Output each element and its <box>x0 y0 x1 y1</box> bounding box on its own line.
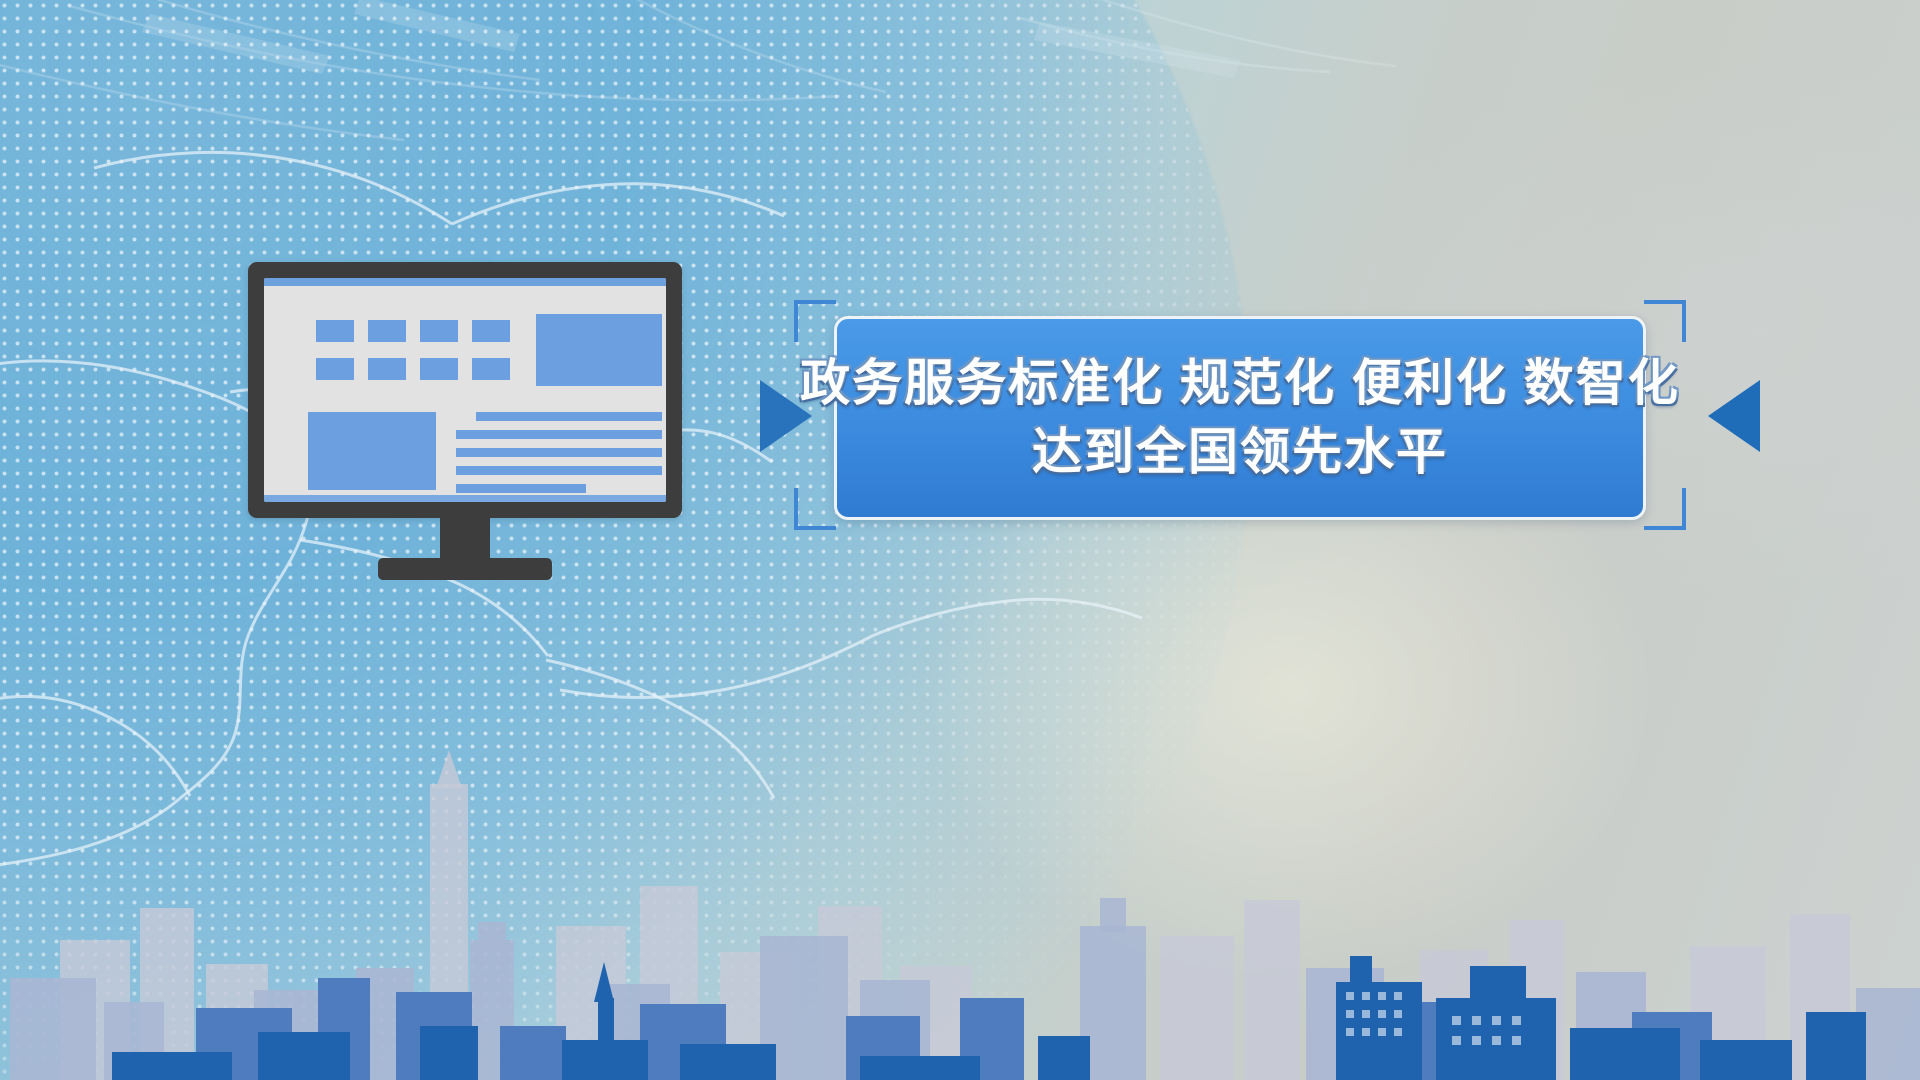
screen-nav-tile <box>368 358 406 380</box>
screen-nav-tile <box>316 320 354 342</box>
screen-text-line <box>456 448 662 457</box>
monitor-stand-neck <box>440 518 490 562</box>
monitor-bezel <box>248 262 682 518</box>
corner-bracket-bottom-left-icon <box>794 488 836 530</box>
monitor-screen <box>264 278 666 502</box>
corner-bracket-bottom-right-icon <box>1644 488 1686 530</box>
screen-text-line <box>456 484 586 493</box>
headline-banner: 政务服务标准化 规范化 便利化 数智化 达到全国领先水平 <box>834 316 1646 520</box>
screen-nav-tile <box>316 358 354 380</box>
city-skyline-silhouette <box>0 740 1920 1080</box>
monitor-stand-base <box>378 558 552 580</box>
screen-nav-tile <box>472 358 510 380</box>
screen-text-line <box>476 412 662 421</box>
screen-bottom-bar <box>264 495 666 502</box>
headline-line-2: 达到全国领先水平 <box>1032 418 1448 487</box>
screen-top-bar <box>264 278 666 286</box>
headline-line-1: 政务服务标准化 规范化 便利化 数智化 <box>800 349 1680 418</box>
screen-nav-tile <box>420 358 458 380</box>
screen-nav-tile <box>472 320 510 342</box>
monitor-illustration <box>248 262 682 592</box>
screen-image-block <box>308 412 436 490</box>
broadcast-graphic-slide: 政务服务标准化 规范化 便利化 数智化 达到全国领先水平 <box>0 0 1920 1080</box>
corner-bracket-top-left-icon <box>794 300 836 342</box>
screen-text-line <box>456 430 662 439</box>
corner-bracket-top-right-icon <box>1644 300 1686 342</box>
screen-nav-tile <box>420 320 458 342</box>
headline-banner-group: 政务服务标准化 规范化 便利化 数智化 达到全国领先水平 <box>760 290 1720 540</box>
screen-text-line <box>456 466 662 475</box>
screen-nav-tile <box>368 320 406 342</box>
right-triangle-arrow-icon <box>1708 380 1760 452</box>
screen-hero-block <box>536 314 662 386</box>
